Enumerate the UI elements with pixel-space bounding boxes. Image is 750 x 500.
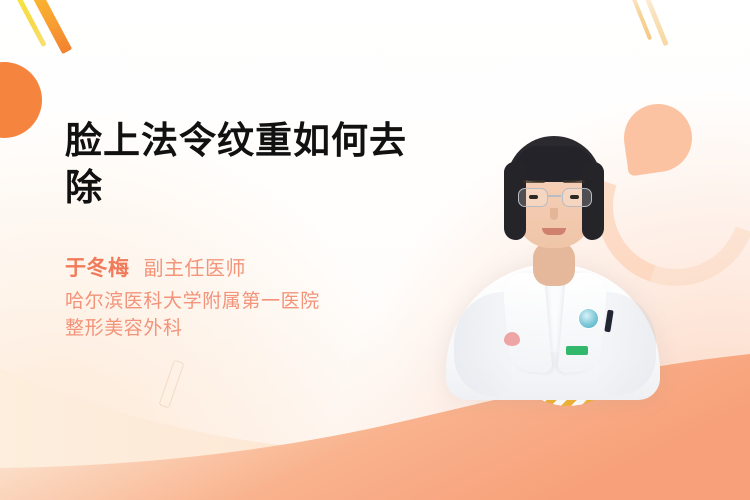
lab-coat-shadow-left (454, 292, 512, 396)
mouth (542, 228, 566, 235)
eyebrow-right (563, 180, 585, 183)
doctor-name: 于冬梅 (65, 252, 130, 282)
doctor-identity-line: 于冬梅 副主任医师 (65, 252, 246, 282)
doctor-affiliation: 哈尔滨医科大学附属第一医院 整形美容外科 (65, 288, 320, 342)
id-badge-icon (578, 308, 599, 329)
glasses-bridge (547, 195, 561, 197)
neck (533, 242, 575, 286)
coat-logo-icon (504, 332, 520, 346)
eye-right (570, 195, 579, 199)
lab-coat-shadow-right (598, 292, 656, 396)
eye-left (529, 195, 538, 199)
department-name: 整形美容外科 (65, 315, 320, 342)
green-name-tag-icon (566, 346, 588, 355)
page-title: 脸上法令纹重如何去除 (65, 117, 415, 211)
doctor-promo-card: 脸上法令纹重如何去除 于冬梅 副主任医师 哈尔滨医科大学附属第一医院 整形美容外… (0, 0, 750, 500)
nose (550, 208, 558, 220)
doctor-role: 副主任医师 (144, 252, 247, 281)
hospital-name: 哈尔滨医科大学附属第一医院 (65, 288, 320, 315)
doctor-portrait (438, 96, 668, 386)
eyebrow-left (523, 180, 545, 183)
